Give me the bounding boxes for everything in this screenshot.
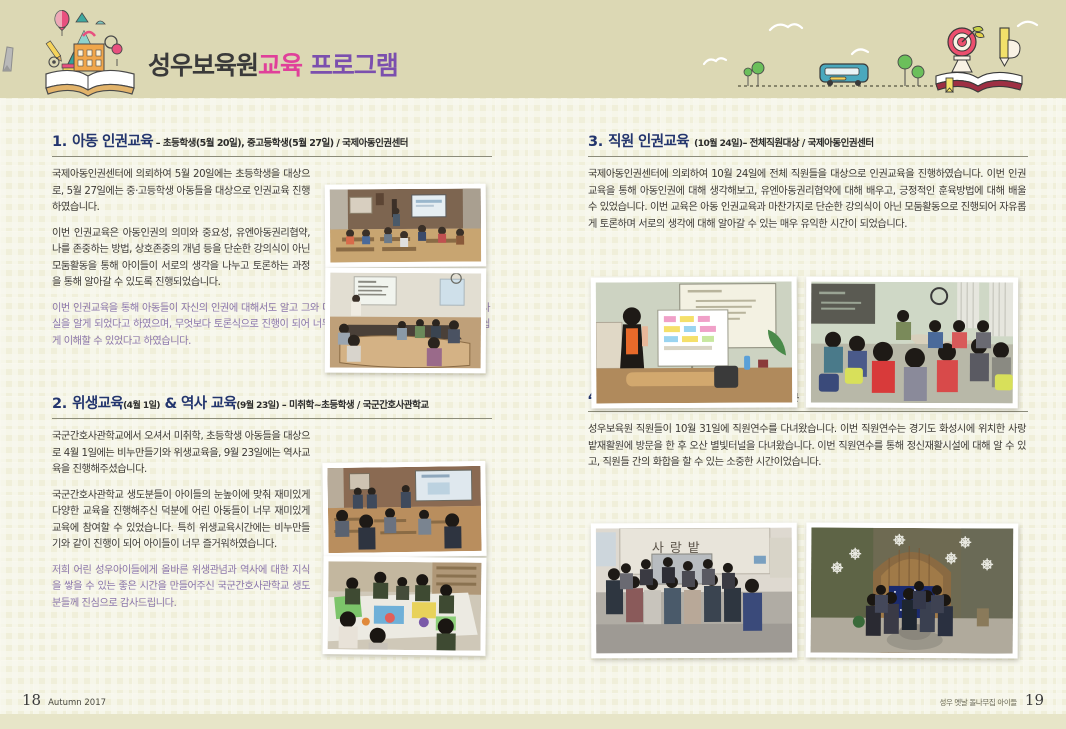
section-1-number: 1.: [52, 134, 67, 150]
section-2-paragraph-2: 국군간호사관학교 생도분들이 아이들의 눈높이에 맞춰 재미있게 다양한 교육을…: [52, 488, 310, 554]
photo-hygiene-lecture: [322, 461, 486, 558]
section-3-number: 3.: [588, 134, 603, 150]
photo-roundtable-discussion: [325, 268, 487, 374]
photo-soap-making-activity: [322, 556, 486, 656]
section-2-heading: 2. 위생교육(4월 1일) & 역사 교육(9월 23일) – 미취학~초등학…: [52, 392, 492, 419]
pencil-icon: [0, 46, 18, 72]
road-scene-illustration: [700, 20, 1066, 98]
magazine-page: 성우보육원교육 프로그램: [0, 0, 1066, 729]
section-1-title: 아동 인권교육: [72, 134, 153, 150]
section-2-title-b: 역사 교육: [181, 396, 236, 412]
section-1-heading: 1. 아동 인권교육 – 초등학생(5월 20일), 중고등학생(5월 27일)…: [52, 130, 492, 157]
page-title-main: 성우보육원: [148, 51, 258, 80]
footer-left: 18Autumn 2017: [22, 690, 106, 709]
section-1-paragraph-1: 국제아동인권센터에 의뢰하여 5월 20일에는 초등학생을 대상으로, 5월 2…: [52, 167, 310, 217]
section-1-paragraph-2: 이번 인권교육은 아동인권의 의미와 중요성, 유엔아동권리협약, 나를 존중하…: [52, 226, 310, 292]
footer-publication-label: 성우 옛날 돌나무집 아이들: [939, 698, 1016, 707]
section-3-dash: –: [743, 138, 750, 149]
photo-staff-whiteboard-session: [591, 276, 798, 408]
footer-issue-label: Autumn 2017: [48, 698, 106, 708]
section-3-date: (10월 24일): [694, 139, 742, 149]
section-2-date-b: (9월 23일): [236, 401, 279, 411]
section-2-ampersand: &: [160, 396, 181, 412]
section-1-dash: –: [153, 138, 163, 149]
section-4-paragraph: 성우보육원 직원들이 10월 31일에 직원연수를 다녀왔습니다. 이번 직원연…: [588, 422, 1026, 472]
section-3-title: 직원 인권교육: [608, 134, 689, 150]
photo-sarangbat-group: 사랑밭: [591, 523, 797, 659]
page-header: 성우보육원교육 프로그램: [0, 0, 1066, 98]
section-2-date-a: (4월 1일): [123, 401, 160, 411]
section-2-number: 2.: [52, 396, 67, 412]
page-title-accent2: 프로그램: [302, 51, 398, 80]
page-title: 성우보육원교육 프로그램: [148, 46, 398, 82]
photo-staff-group-discussion: [806, 277, 1018, 409]
section-3-paragraph: 국제아동인권센터에 의뢰하여 10월 24일에 전체 직원들을 대상으로 인권교…: [588, 167, 1026, 233]
section-3: 3. 직원 인권교육 (10월 24일)– 전체직원대상 / 국제아동인권센터 …: [588, 130, 1028, 233]
open-book-illustration: [38, 6, 142, 98]
section-2-title-a: 위생교육: [72, 396, 123, 412]
footer-band: [0, 714, 1066, 729]
page-title-accent1: 교육: [258, 51, 302, 80]
section-2-dash: –: [279, 400, 289, 411]
photo-classroom-lecture: [325, 183, 487, 267]
section-2-paragraph-1: 국군간호사관학교에서 오셔서 미취학, 초등학생 아동들을 대상으로 4월 1일…: [52, 429, 310, 479]
section-3-meta: 전체직원대상 / 국제아동인권센터: [750, 138, 874, 149]
photo-starlight-tunnel-group: [806, 522, 1019, 658]
page-number-left: 18: [22, 691, 41, 709]
section-2-highlight: 저희 어린 성우아이들에게 올바른 위생관념과 역사에 대한 지식을 쌓을 수 …: [52, 563, 310, 613]
page-number-right: 19: [1025, 691, 1044, 709]
section-3-paragraph-highlight: 이번 교육은 아동 인권교육과 마찬가지로 단순한 강의식이 아닌 모둠활동으로…: [588, 202, 1026, 230]
footer-right: 성우 옛날 돌나무집 아이들19: [939, 690, 1044, 709]
section-2-meta: 미취학~초등학생 / 국군간호사관학교: [289, 400, 429, 411]
section-3-heading: 3. 직원 인권교육 (10월 24일)– 전체직원대상 / 국제아동인권센터: [588, 130, 1028, 157]
section-1-meta: 초등학생(5월 20일), 중고등학생(5월 27일) / 국제아동인권센터: [163, 138, 408, 149]
